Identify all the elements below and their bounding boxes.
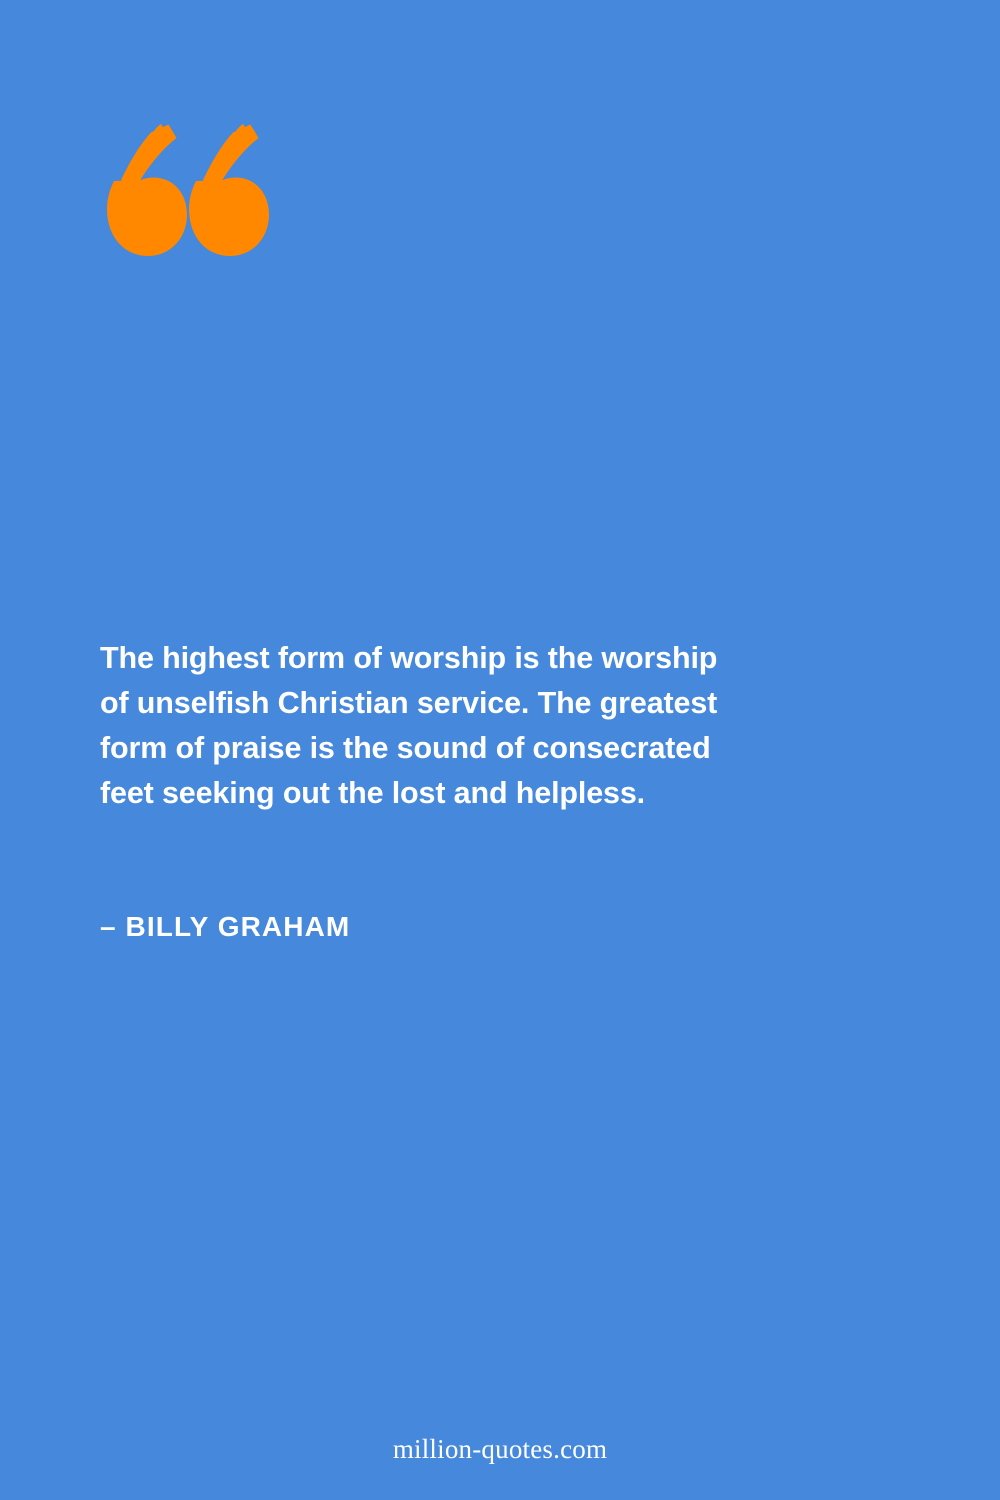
site-watermark: million-quotes.com [0,1432,1000,1466]
quote-line: of unselfish Christian service. The grea… [100,681,800,726]
quote-line: The highest form of worship is the worsh… [100,636,800,681]
quote-text: The highest form of worship is the worsh… [100,636,800,816]
quote-line: feet seeking out the lost and helpless. [100,771,800,816]
quote-author-attribution: – BILLY GRAHAM [100,908,350,946]
quote-card: The highest form of worship is the worsh… [0,0,1000,1500]
double-opening-quotation-mark-icon [88,124,258,276]
quote-line: form of praise is the sound of consecrat… [100,726,800,771]
